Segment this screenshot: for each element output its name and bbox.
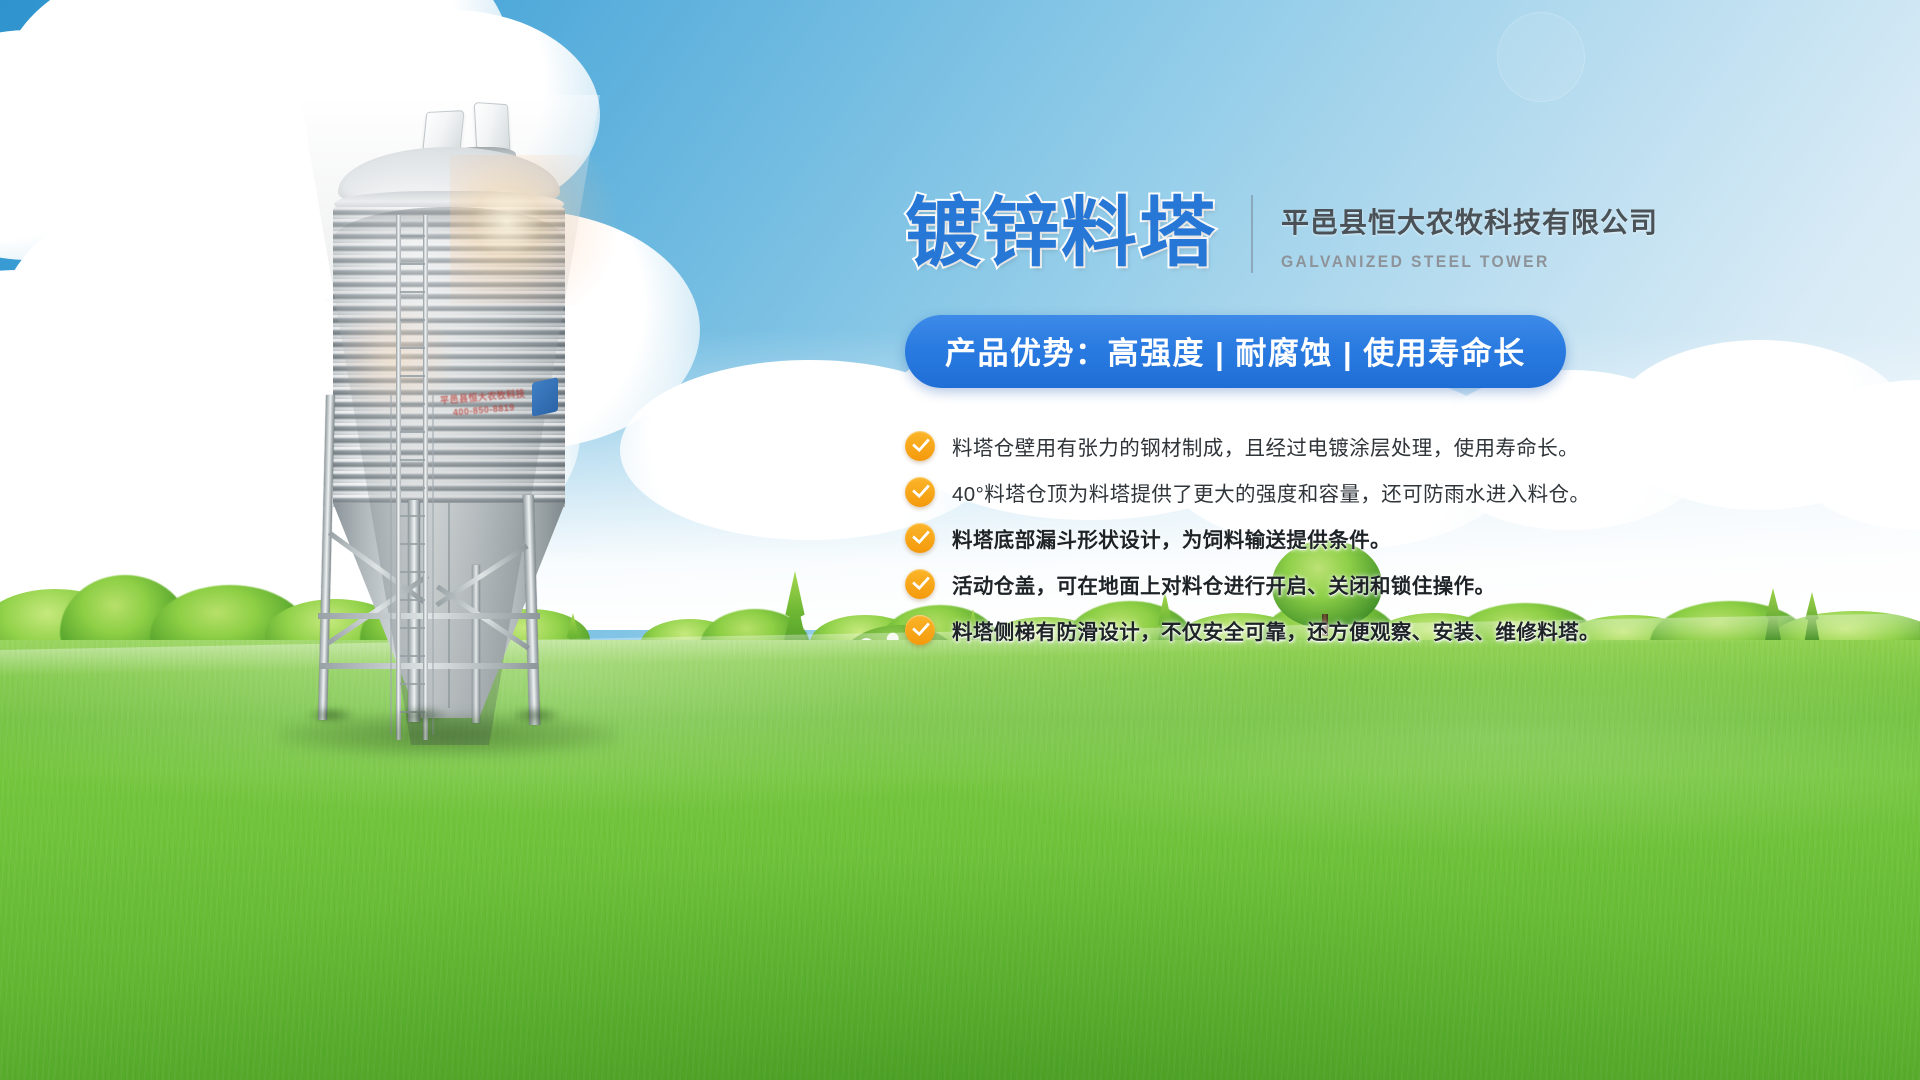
banner-stage: 平邑县恒大农牧科技 400-850-8819 <box>0 0 1920 1080</box>
leg-shadow-1 <box>308 707 354 723</box>
list-item: 料塔仓壁用有张力的钢材制成，且经过电镀涂层处理，使用寿命长。 <box>905 431 1605 461</box>
content-panel: 镀锌料塔 平邑县恒大农牧科技有限公司 GALVANIZED STEEL TOWE… <box>905 195 1605 661</box>
headline-row: 镀锌料塔 平邑县恒大农牧科技有限公司 GALVANIZED STEEL TOWE… <box>905 195 1605 273</box>
company-name: 平邑县恒大农牧科技有限公司 <box>1281 201 1658 241</box>
check-circle-icon <box>905 569 935 599</box>
advantage-badge[interactable]: 产品优势：高强度 | 耐腐蚀 | 使用寿命长 <box>905 315 1566 388</box>
check-circle-icon <box>905 431 935 461</box>
silo-outlet-chute <box>532 377 558 417</box>
check-circle-icon <box>905 615 935 645</box>
list-item: 40°料塔仓顶为料塔提供了更大的强度和容量，还可防雨水进入料仓。 <box>905 477 1605 507</box>
title-divider <box>1251 195 1253 273</box>
ladder-rung <box>400 375 425 377</box>
silo-hopper-seam <box>448 503 450 708</box>
feature-text: 40°料塔仓顶为料塔提供了更大的强度和容量，还可防雨水进入料仓。 <box>952 477 1590 507</box>
sun-glint-icon <box>500 42 506 48</box>
feature-text: 料塔底部漏斗形状设计，为饲料输送提供条件。 <box>952 523 1391 553</box>
feature-list: 料塔仓壁用有张力的钢材制成，且经过电镀涂层处理，使用寿命长。 40°料塔仓顶为料… <box>905 431 1605 645</box>
feature-text: 料塔侧梯有防滑设计，不仅安全可靠，还方便观察、安装、维修料塔。 <box>952 615 1600 645</box>
decorative-circle <box>1497 12 1585 102</box>
leg-shadow-3 <box>512 707 560 723</box>
page-title: 镀锌料塔 <box>905 196 1217 272</box>
ladder-rung <box>400 235 425 237</box>
ladder-rung <box>400 319 425 321</box>
feature-text: 活动仓盖，可在地面上对料仓进行开启、关闭和锁住操作。 <box>952 569 1495 599</box>
list-item: 料塔底部漏斗形状设计，为饲料输送提供条件。 <box>905 523 1605 553</box>
galvanized-silo-illustration: 平邑县恒大农牧科技 400-850-8819 <box>300 95 600 745</box>
leg-shadow-2 <box>396 707 448 723</box>
ladder-rung <box>400 347 425 349</box>
company-block: 平邑县恒大农牧科技有限公司 GALVANIZED STEEL TOWER <box>1281 197 1658 272</box>
grass-field <box>0 640 1920 1080</box>
feature-text: 料塔仓壁用有张力的钢材制成，且经过电镀涂层处理，使用寿命长。 <box>952 431 1579 461</box>
check-circle-icon <box>905 477 935 507</box>
ladder-safety-cage <box>390 395 434 735</box>
check-circle-icon <box>905 523 935 553</box>
silo-leg-1 <box>318 395 335 720</box>
list-item: 料塔侧梯有防滑设计，不仅安全可靠，还方便观察、安装、维修料塔。 <box>905 615 1605 645</box>
ladder-rung <box>400 263 425 265</box>
company-subtitle-en: GALVANIZED STEEL TOWER <box>1281 252 1628 272</box>
list-item: 活动仓盖，可在地面上对料仓进行开启、关闭和锁住操作。 <box>905 569 1605 599</box>
silo-leg-4 <box>472 565 480 723</box>
ladder-rung <box>400 291 425 293</box>
field-light-sheen <box>0 640 1920 1080</box>
